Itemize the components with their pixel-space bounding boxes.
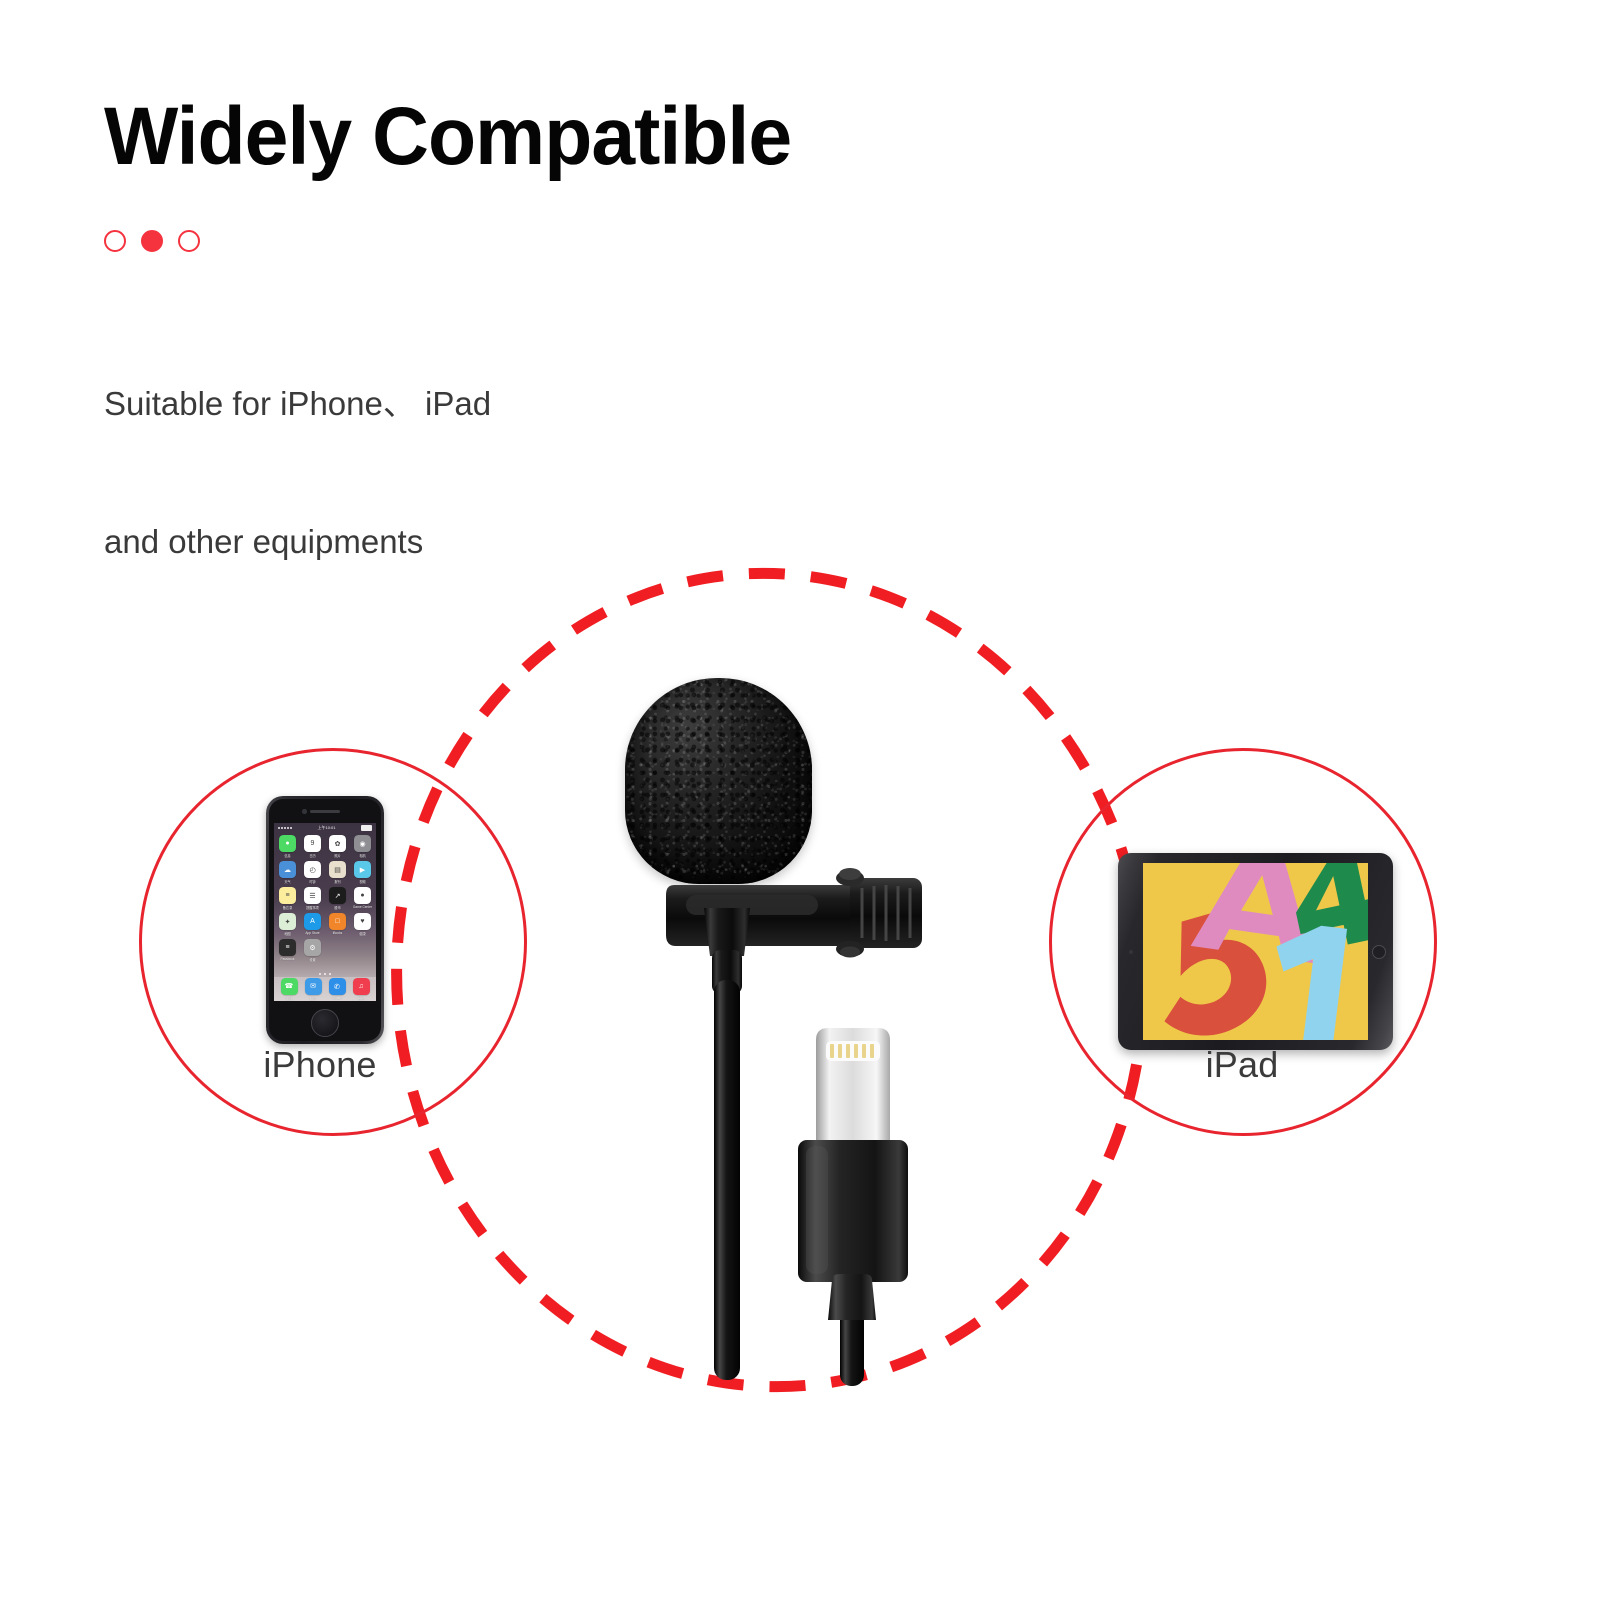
infographic-page: Widely Compatible Suitable for iPhone、 i… — [0, 0, 1600, 1600]
mail-icon: ✉ — [305, 978, 322, 995]
step-dots — [104, 230, 200, 252]
notes-icon: ≡ — [279, 887, 296, 904]
ipad-wallpaper — [1143, 863, 1368, 1040]
iphone-app-label: 地图 — [284, 931, 290, 936]
iphone-front-camera-icon — [302, 809, 307, 814]
iphone-app-grid: ●信息9日历✿照片◉相机☁天气◴时钟▤报刊▶视频≡备忘录☰提醒事项↗股市●Gam… — [277, 835, 373, 962]
iphone-dock-app: ♫音乐 — [353, 978, 370, 1001]
iphone-app-label: 提醒事项 — [306, 905, 319, 910]
music-icon: ♫ — [353, 978, 370, 995]
iphone-app-label: 股市 — [334, 905, 340, 910]
iphone-app: ●信息 — [277, 835, 298, 858]
iphone-app-label: 相机 — [359, 853, 365, 858]
phone-icon: ☎ — [281, 978, 298, 995]
iphone-app-label: Passbook — [281, 957, 295, 961]
lavalier-microphone — [600, 650, 1020, 1390]
iphone-app: ↗股市 — [327, 887, 348, 910]
iphone-app-label: 报刊 — [334, 879, 340, 884]
iphone-app-label: 设置 — [309, 957, 315, 962]
device-label-ipad: iPad — [1092, 1044, 1392, 1086]
device-label-iphone: iPhone — [170, 1044, 470, 1086]
iphone-app: ◉相机 — [352, 835, 373, 858]
iphone-app-label: 天气 — [284, 879, 290, 884]
ipad-front-camera-icon — [1129, 950, 1133, 954]
iphone-app-label: Game Center — [353, 905, 372, 909]
iphone-earpiece-icon — [310, 810, 340, 813]
messages-icon: ● — [279, 835, 296, 852]
newsstand-icon: ▤ — [329, 861, 346, 878]
weather-icon: ☁ — [279, 861, 296, 878]
clock-icon: ◴ — [304, 861, 321, 878]
iphone-page-dots — [274, 973, 376, 975]
mic-cable — [714, 980, 740, 1380]
signal-bars-icon — [278, 827, 292, 829]
iphone-app: ≡备忘录 — [277, 887, 298, 910]
iphone-app: AApp Store — [302, 913, 323, 936]
iphone-app: ▶视频 — [352, 861, 373, 884]
iphone-app: ☰提醒事项 — [302, 887, 323, 910]
iphone-clock: 上午10:01 — [317, 825, 335, 831]
iphone-app: □iBooks — [327, 913, 348, 936]
mic-body — [600, 650, 1020, 1390]
settings-icon: ⚙ — [304, 939, 321, 956]
iphone-app: ≡Passbook — [277, 939, 298, 962]
step-dot-3 — [178, 230, 200, 252]
iphone-app-label: iBooks — [333, 931, 343, 935]
iphone-page-dot — [319, 973, 321, 975]
iphone-dock: ☎电话✉邮件✆Safari♫音乐 — [274, 977, 376, 1001]
reminders-icon: ☰ — [304, 887, 321, 904]
iphone-dock-label: Safari — [333, 996, 341, 1000]
iphone-page-dot — [329, 973, 331, 975]
iphone-app: ◴时钟 — [302, 861, 323, 884]
iphone-app: ✿照片 — [327, 835, 348, 858]
iphone-dock-app: ✆Safari — [329, 978, 346, 1000]
iphone-app: ⚙设置 — [302, 939, 323, 962]
iphone-page-dot — [324, 973, 326, 975]
passbook-icon: ≡ — [279, 939, 296, 956]
iphone-dock-app: ☎电话 — [281, 978, 298, 1001]
ibooks-icon: □ — [329, 913, 346, 930]
ipad-screen — [1143, 863, 1368, 1040]
iphone-app-label: 信息 — [284, 853, 290, 858]
iphone-app: ✦地图 — [277, 913, 298, 936]
iphone-app: ☁天气 — [277, 861, 298, 884]
iphone-dock-label: 音乐 — [358, 996, 364, 1001]
iphone-app-label: App Store — [305, 931, 319, 935]
iphone-dock-label: 电话 — [286, 996, 292, 1001]
videos-icon: ▶ — [354, 861, 371, 878]
page-title: Widely Compatible — [104, 94, 791, 180]
clip-arm — [666, 868, 922, 958]
ipad-home-button — [1372, 945, 1386, 959]
iphone-dock-label: 邮件 — [310, 996, 316, 1001]
iphone-app: ♥健康 — [352, 913, 373, 936]
iphone-app: ●Game Center — [352, 887, 373, 910]
photos-icon: ✿ — [329, 835, 346, 852]
iphone-app-label: 时钟 — [309, 879, 315, 884]
iphone-screen: 上午10:01 ●信息9日历✿照片◉相机☁天气◴时钟▤报刊▶视频≡备忘录☰提醒事… — [274, 823, 376, 1001]
iphone-app: 9日历 — [302, 835, 323, 858]
iphone-home-button — [311, 1009, 339, 1037]
iphone-app-label: 备忘录 — [283, 905, 293, 910]
iphone-status-bar: 上午10:01 — [274, 824, 376, 832]
battery-icon — [361, 825, 372, 831]
health-icon: ♥ — [354, 913, 371, 930]
iphone-app-label: 照片 — [334, 853, 340, 858]
subtitle-line-2: and other equipments — [104, 519, 491, 565]
iphone-app-label: 日历 — [309, 853, 315, 858]
subtitle-line-1: Suitable for iPhone、 iPad — [104, 381, 491, 427]
stocks-icon: ↗ — [329, 887, 346, 904]
lightning-connector — [798, 1028, 908, 1320]
iphone-dock-app: ✉邮件 — [305, 978, 322, 1001]
game-center-icon: ● — [354, 887, 371, 904]
safari-icon: ✆ — [329, 978, 346, 995]
step-dot-1 — [104, 230, 126, 252]
iphone-app: ▤报刊 — [327, 861, 348, 884]
calendar-icon: 9 — [304, 835, 321, 852]
ipad-device — [1118, 853, 1393, 1050]
step-dot-2 — [141, 230, 163, 252]
iphone-device: 上午10:01 ●信息9日历✿照片◉相机☁天气◴时钟▤报刊▶视频≡备忘录☰提醒事… — [266, 796, 384, 1044]
iphone-app-label: 健康 — [359, 931, 365, 936]
app-store-icon: A — [304, 913, 321, 930]
maps-icon: ✦ — [279, 913, 296, 930]
camera-icon: ◉ — [354, 835, 371, 852]
iphone-app-label: 视频 — [359, 879, 365, 884]
